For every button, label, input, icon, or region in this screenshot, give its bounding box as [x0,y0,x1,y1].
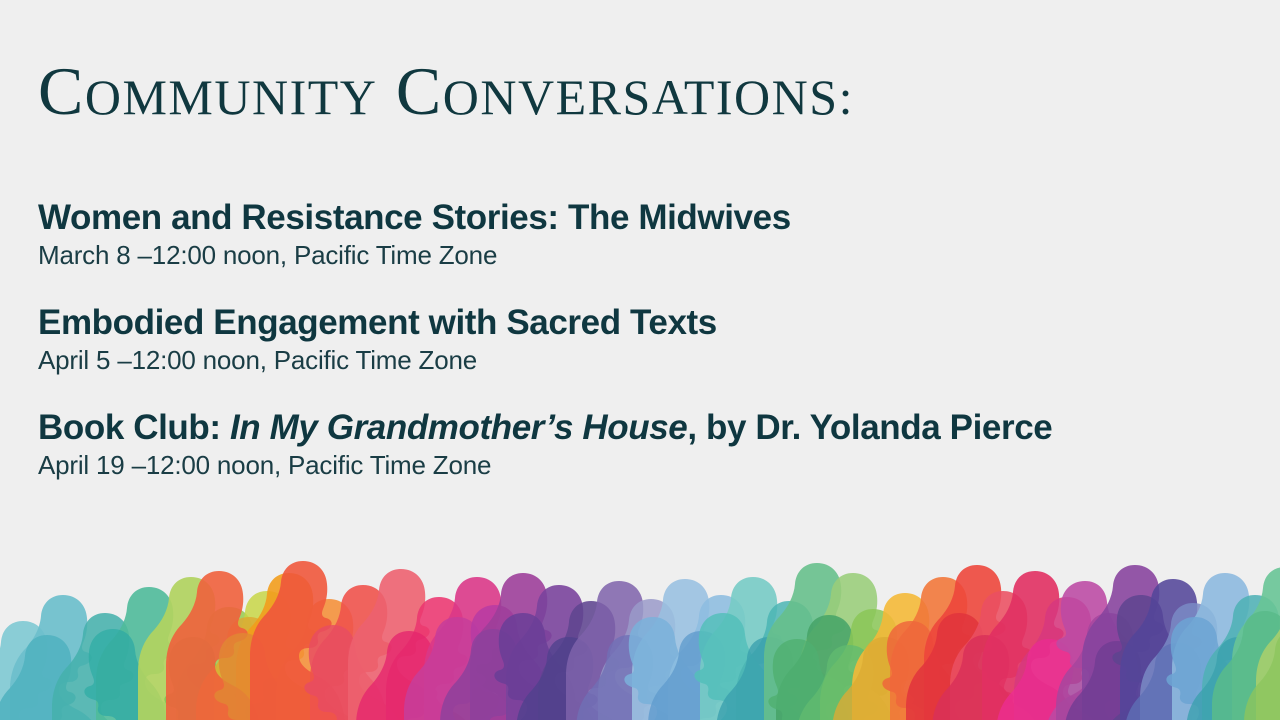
event-title-prefix: Book Club: [38,408,230,447]
event-title: Book Club: In My Grandmother’s House, by… [38,408,1268,447]
event-datetime: March 8 –12:00 noon, Pacific Time Zone [38,241,1268,271]
slide-canvas: COMMUNITY CONVERSATIONS: Women and Resis… [0,0,1280,720]
title-word-2-cap: C [396,53,443,129]
event-title-prefix: Women and Resistance Stories: The Midwiv… [38,198,791,237]
title-word-1-cap: C [38,53,85,129]
event-datetime: April 5 –12:00 noon, Pacific Time Zone [38,346,1268,376]
crowd-silhouette-artwork [0,550,1280,720]
event-item: Women and Resistance Stories: The Midwiv… [38,198,1268,271]
event-title: Women and Resistance Stories: The Midwiv… [38,198,1268,237]
event-list: Women and Resistance Stories: The Midwiv… [38,198,1268,481]
event-title-italic: In My Grandmother’s House [230,408,687,447]
crowd-silhouette-svg [0,550,1280,720]
event-title-prefix: Embodied Engagement with Sacred Texts [38,303,717,342]
title-word-1-rest: OMMUNITY [85,69,378,125]
event-item: Book Club: In My Grandmother’s House, by… [38,408,1268,481]
event-datetime: April 19 –12:00 noon, Pacific Time Zone [38,451,1268,481]
event-title: Embodied Engagement with Sacred Texts [38,303,1268,342]
event-item: Embodied Engagement with Sacred Texts Ap… [38,303,1268,376]
title-word-2-rest: ONVERSATIONS: [443,69,854,125]
event-title-suffix: , by Dr. Yolanda Pierce [687,408,1052,447]
page-title: COMMUNITY CONVERSATIONS: [38,57,854,125]
